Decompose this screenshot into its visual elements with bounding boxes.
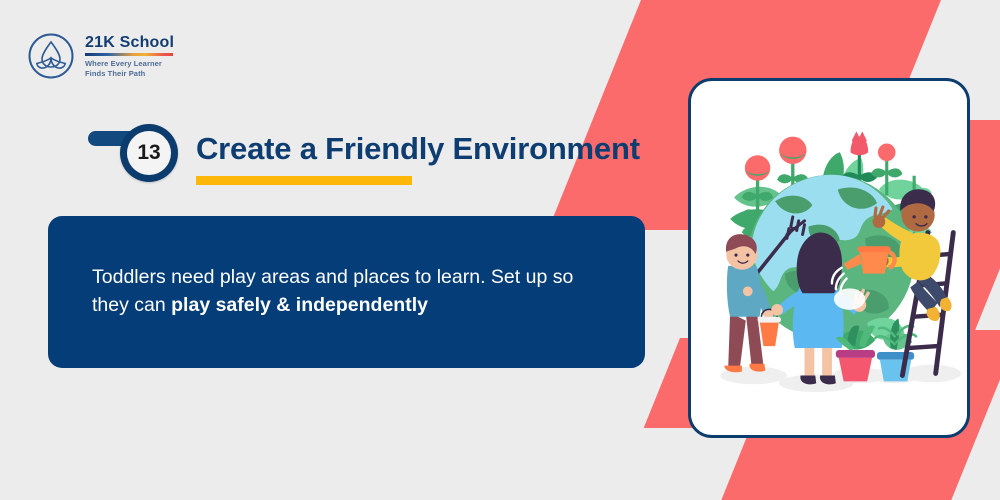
logo-tagline: Where Every Learner Finds Their Path bbox=[85, 59, 174, 79]
brand-logo: 21K School Where Every Learner Finds The… bbox=[27, 32, 174, 80]
badge-number: 13 bbox=[127, 131, 171, 175]
globe-shine bbox=[834, 288, 865, 310]
step-number-badge: 13 bbox=[88, 124, 188, 186]
logo-tagline-line2: Finds Their Path bbox=[85, 69, 145, 78]
description-emphasis: play safely & independently bbox=[171, 294, 428, 316]
description-text: Toddlers need play areas and places to l… bbox=[48, 264, 645, 319]
illustration-card bbox=[688, 78, 970, 438]
logo-gradient-rule bbox=[85, 53, 173, 56]
kids-gardening-around-globe-illustration bbox=[691, 81, 967, 435]
description-panel: Toddlers need play areas and places to l… bbox=[48, 216, 645, 368]
page-title: Create a Friendly Environment bbox=[196, 131, 640, 167]
logo-tagline-line1: Where Every Learner bbox=[85, 59, 162, 68]
lotus-circle-logo-icon bbox=[27, 32, 75, 80]
badge-ring: 13 bbox=[120, 124, 178, 182]
title-underline-rule bbox=[196, 176, 412, 185]
logo-title: 21K School bbox=[85, 35, 174, 52]
